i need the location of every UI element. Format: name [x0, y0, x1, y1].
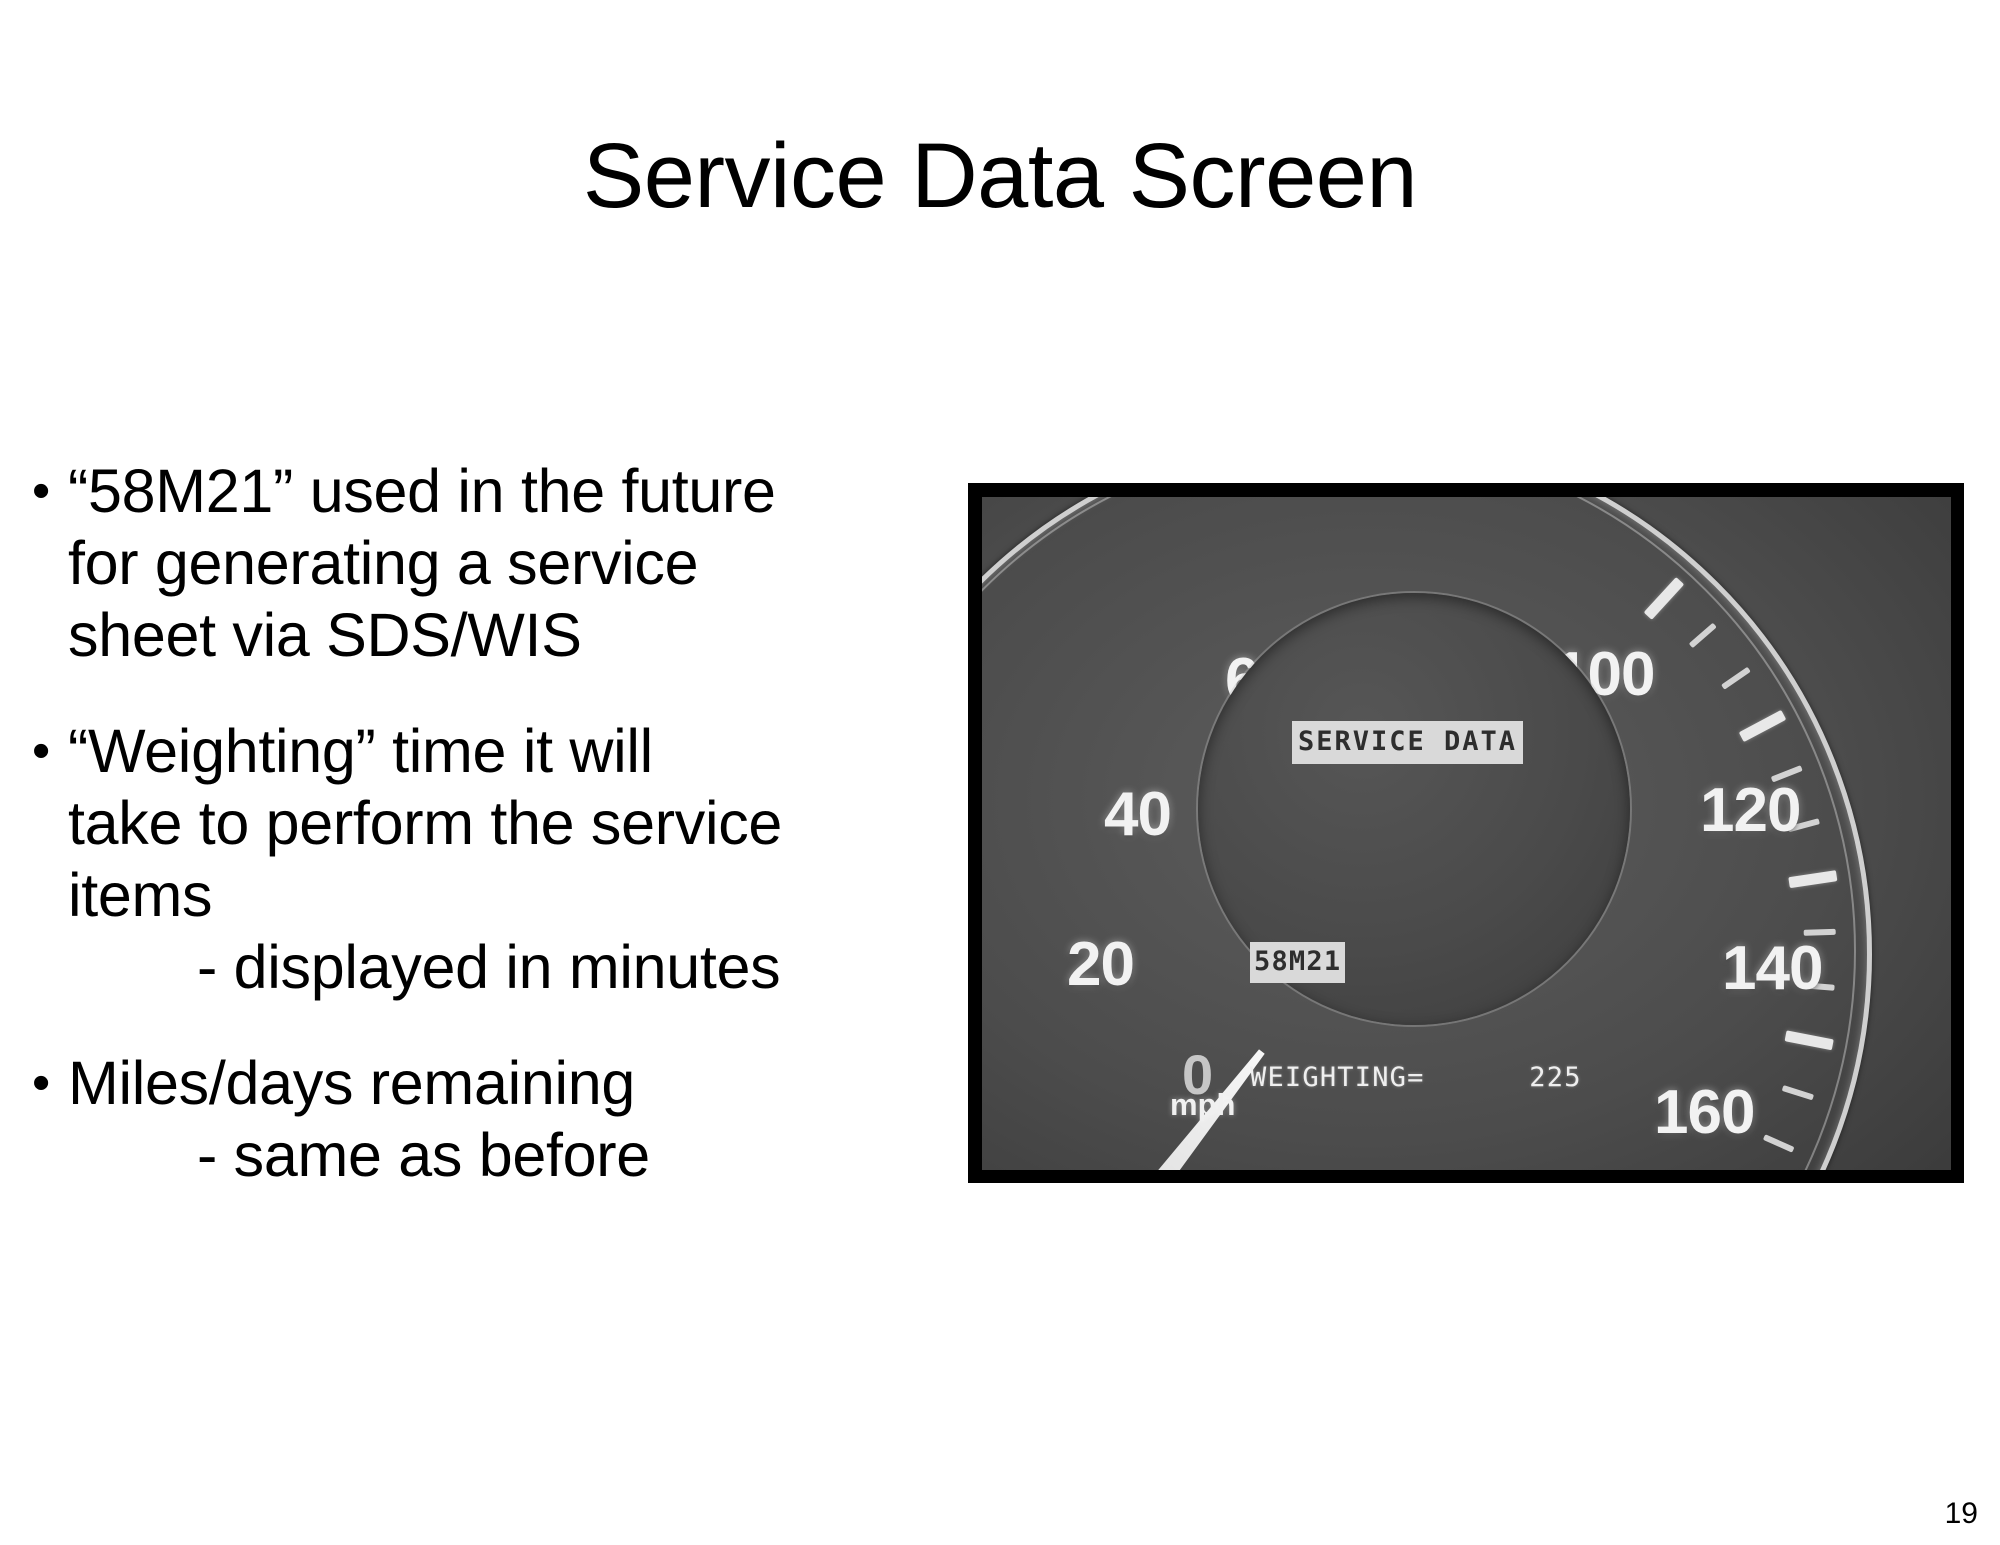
gauge-unit-label: mph: [1170, 1087, 1235, 1123]
gauge-label-40: 40: [1104, 779, 1171, 850]
bullet-2-sub-line-1: - displayed in minutes: [197, 931, 782, 1003]
lcd-row-weighting: WEIGHTING= 225: [1250, 1059, 1610, 1097]
gauge-label-20: 20: [1067, 929, 1134, 1000]
bullet-item-1: • “58M21” used in the future for generat…: [22, 455, 782, 671]
slide-page-number: 19: [1945, 1497, 1978, 1531]
bullet-list: • “58M21” used in the future for generat…: [22, 455, 782, 1235]
gauge-face: 20 40 60 80 100 120 140 160 0 SERVICE DA…: [982, 497, 1951, 1170]
gauge-label-140: 140: [1722, 933, 1822, 1004]
bullet-item-3: • Miles/days remaining - same as before: [22, 1047, 782, 1191]
gauge-label-160: 160: [1654, 1077, 1754, 1148]
bullet-3-sub-line-1: - same as before: [197, 1119, 782, 1191]
bullet-marker-icon: •: [22, 455, 68, 527]
bullet-2-line-3: items: [68, 859, 782, 931]
bullet-2-line-2: take to perform the service: [68, 787, 782, 859]
bullet-marker-icon: •: [22, 715, 68, 787]
lcd-service-data-screen: SERVICE DATA 58M21 WEIGHTING= 225 MILES …: [1250, 645, 1610, 905]
bullet-1-line-1: “58M21” used in the future: [68, 455, 776, 527]
bullet-1-line-3: sheet via SDS/WIS: [68, 599, 782, 671]
bullet-2-line-1: “Weighting” time it will: [68, 715, 653, 787]
bullet-marker-icon: •: [22, 1047, 68, 1119]
page-title: Service Data Screen: [0, 130, 2000, 222]
instrument-cluster-photo: 20 40 60 80 100 120 140 160 0 SERVICE DA…: [968, 483, 1964, 1183]
bullet-3-line-1: Miles/days remaining: [68, 1047, 635, 1119]
lcd-code-field: 58M21: [1250, 942, 1345, 983]
lcd-title-bar: SERVICE DATA: [1292, 721, 1523, 764]
lcd-spacer: [1250, 840, 1610, 866]
bullet-item-2: • “Weighting” time it will take to perfo…: [22, 715, 782, 1003]
bullet-1-line-2: for generating a service: [68, 527, 782, 599]
gauge-label-120: 120: [1700, 775, 1800, 846]
